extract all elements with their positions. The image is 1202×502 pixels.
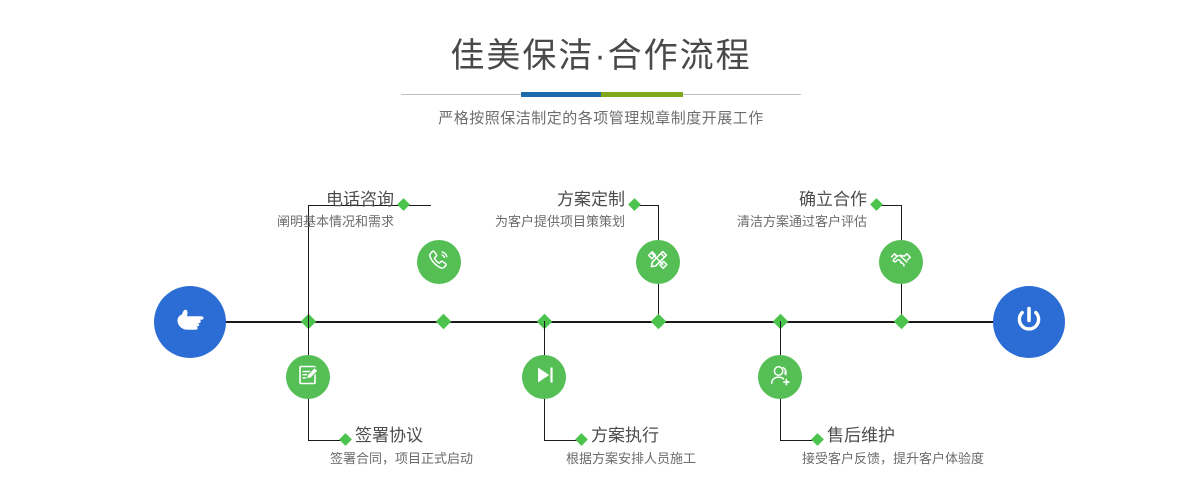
timeline-marker-step-5b <box>894 314 910 330</box>
start-node[interactable] <box>154 286 226 358</box>
step-node-6[interactable] <box>758 355 802 399</box>
step-node-3[interactable] <box>636 240 680 284</box>
step-label-desc-4: 根据方案安排人员施工 <box>566 450 696 468</box>
step-node-2[interactable] <box>286 355 330 399</box>
timeline-marker-step-2 <box>436 314 452 330</box>
step-label-desc-2: 签署合同，项目正式启动 <box>330 450 473 468</box>
step-label-desc-1: 阐明基本情况和需求 <box>194 213 394 231</box>
label-marker-step-5 <box>870 198 883 211</box>
connector-step-3-branch <box>638 205 659 206</box>
pointing-hand-icon <box>170 300 210 345</box>
label-marker-step-3 <box>628 198 641 211</box>
power-icon <box>1009 300 1049 345</box>
phone-call-icon <box>426 247 452 278</box>
step-label-desc-3: 为客户提供项目策策划 <box>425 213 625 231</box>
handshake-icon <box>888 247 914 278</box>
end-node[interactable] <box>993 286 1065 358</box>
document-sign-icon <box>295 362 321 393</box>
step-node-1[interactable] <box>417 240 461 284</box>
pencil-ruler-icon <box>645 247 671 278</box>
timeline-marker-step-3b <box>651 314 667 330</box>
step-label-title-4: 方案执行 <box>591 425 659 447</box>
timeline-axis <box>225 321 995 323</box>
label-marker-step-1 <box>397 198 410 211</box>
customer-service-add-icon <box>767 362 793 393</box>
step-label-title-6: 售后维护 <box>827 425 895 447</box>
step-label-title-1: 电话咨询 <box>219 189 394 211</box>
play-execute-icon <box>531 362 557 393</box>
label-marker-step-2 <box>339 433 352 446</box>
connector-step-5-branch <box>880 205 902 206</box>
step-label-title-3: 方案定制 <box>450 189 625 211</box>
step-label-desc-6: 接受客户反馈，提升客户体验度 <box>802 450 984 468</box>
step-label-title-2: 签署协议 <box>355 425 423 447</box>
step-node-5[interactable] <box>879 240 923 284</box>
process-flow-timeline: 电话咨询 阐明基本情况和需求 签署协议 签署合同，项目正式启动 <box>0 0 1202 502</box>
label-marker-step-6 <box>811 433 824 446</box>
step-label-desc-5: 清洁方案通过客户评估 <box>667 213 867 231</box>
step-label-title-5: 确立合作 <box>692 189 867 211</box>
label-marker-step-4 <box>575 433 588 446</box>
step-node-4[interactable] <box>522 355 566 399</box>
